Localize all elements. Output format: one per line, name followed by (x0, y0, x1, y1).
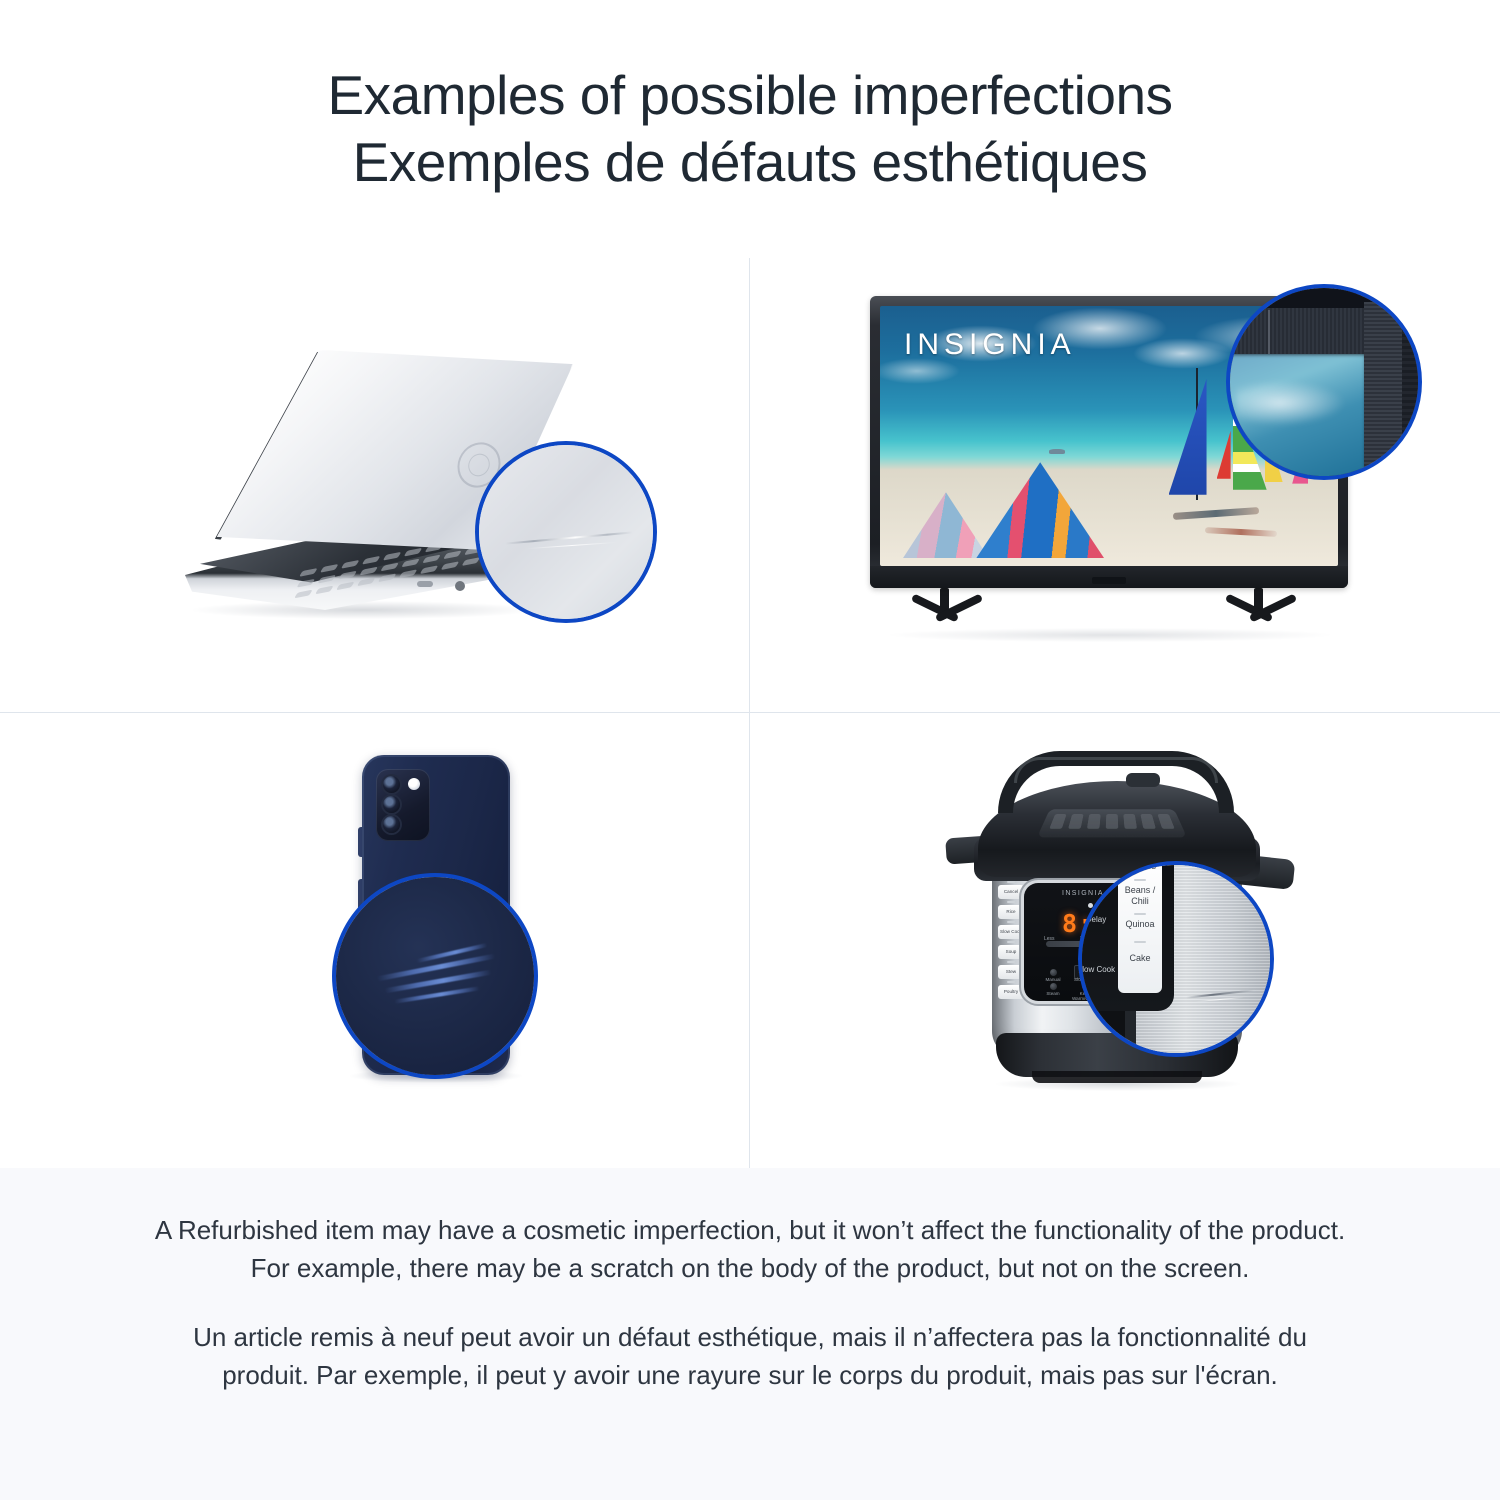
pressure-cooker-illustration: Cancel Rice Slow Cook Soup Stew Poultry … (750, 713, 1500, 1168)
cooker-button[interactable]: Rice (998, 905, 1024, 919)
example-cell-laptop (0, 258, 750, 713)
tv-kite-1 (903, 492, 989, 558)
tv-led-indicator (1092, 577, 1126, 584)
cooker-handle-highlight (1014, 757, 1218, 783)
tv-sail-red (1217, 431, 1231, 479)
cooker-button[interactable]: Soup (998, 945, 1024, 959)
bezel-scuff-mark (1268, 310, 1270, 354)
footer-description: A Refurbished item may have a cosmetic i… (0, 1168, 1500, 1500)
camera-flash-icon (408, 778, 420, 790)
magnified-label: Slow Cook (1078, 965, 1116, 974)
cooker-lid-vent-panel (1037, 809, 1187, 837)
cooker-key-label[interactable]: Manual (1040, 977, 1066, 982)
laptop-usb-port (417, 581, 433, 587)
tv-brand-logo: INSIGNIA (904, 328, 1076, 362)
tv-leg-left (912, 588, 988, 632)
header: Examples of possible imperfections Exemp… (0, 0, 1500, 258)
cooker-button[interactable]: Slow Cook (998, 925, 1024, 939)
tv-leg-right (1226, 588, 1302, 632)
scratch-highlight (527, 542, 617, 549)
magnified-label: Quinoa (1118, 919, 1162, 930)
footer-paragraph-french: Un article remis à neuf peut avoir un dé… (150, 1319, 1350, 1394)
cooker-button[interactable]: Poultry (998, 985, 1024, 999)
magnified-cloud (1236, 380, 1346, 426)
magnifier-phone-scratch (332, 873, 538, 1079)
cooker-button[interactable]: Cancel (998, 885, 1024, 899)
footer-paragraph-english: A Refurbished item may have a cosmetic i… (150, 1212, 1350, 1287)
tv-beach-object-2 (1205, 527, 1277, 537)
magnified-label: Cake (1118, 953, 1162, 964)
cooker-button[interactable]: Stew (998, 965, 1024, 979)
camera-lens-icon-3 (383, 816, 400, 833)
examples-grid: INSIGNIA (0, 258, 1500, 1168)
camera-lens-icon-1 (383, 776, 400, 793)
laptop-illustration (0, 258, 749, 712)
example-cell-phone (0, 713, 750, 1168)
phone-camera-module (376, 769, 430, 841)
laptop-audio-port (455, 581, 465, 591)
tv-distant-boat (1049, 449, 1065, 454)
tv-bottom-bezel (870, 566, 1348, 588)
magnified-side-bezel (1402, 310, 1422, 472)
example-cell-pressure-cooker: Cancel Rice Slow Cook Soup Stew Poultry … (750, 713, 1500, 1168)
magnifier-laptop-scratch (475, 441, 657, 623)
cooker-key-label[interactable]: Steam (1040, 991, 1066, 996)
magnifier-cooker-scratch: Delay Slow Cook Veggies Beans / Chili Qu… (1078, 861, 1274, 1057)
cooker-feet (1032, 1071, 1202, 1083)
tv-kite-2 (976, 462, 1104, 558)
cooker-bar-label: Less (1044, 936, 1055, 942)
page-title-english: Examples of possible imperfections (327, 62, 1172, 129)
phone-illustration (0, 713, 749, 1168)
magnified-label: Beans / Chili (1118, 885, 1162, 907)
page-title-french: Exemples de défauts esthétiques (353, 129, 1148, 196)
magnified-button-strip: Veggies Beans / Chili Quinoa Cake (1118, 861, 1162, 993)
refurbished-imperfections-infographic: Examples of possible imperfections Exemp… (0, 0, 1500, 1500)
magnifier-tv-bezel (1226, 284, 1422, 480)
magnified-label: Delay (1078, 915, 1116, 924)
camera-lens-icon-2 (383, 796, 400, 813)
tv-beach-object-1 (1173, 507, 1259, 520)
tv-illustration: INSIGNIA (750, 258, 1500, 712)
example-cell-tv: INSIGNIA (750, 258, 1500, 713)
